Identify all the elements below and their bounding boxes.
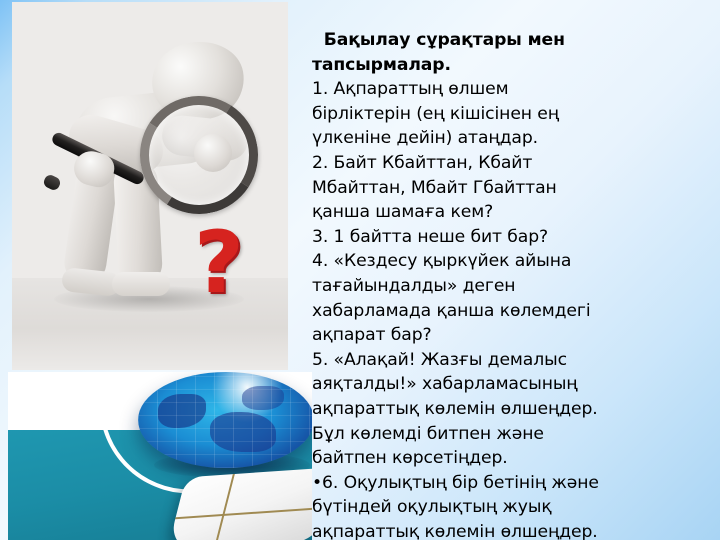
- text-line: байтпен көрсетіңдер.: [312, 446, 712, 471]
- text-line: ақпараттық көлемін өлшеңдер.: [312, 520, 712, 540]
- text-line: 5. «Алақай! Жазғы демалыс: [312, 348, 712, 373]
- text-line: 4. «Кездесу қыркүйек айына: [312, 249, 712, 274]
- text-line: 2. Байт Кбайттан, Кбайт: [312, 151, 712, 176]
- text-line: хабарламада қанша көлемдегі: [312, 299, 712, 324]
- figure-hand-right: [194, 134, 232, 172]
- text-line: •6. Оқулықтың бір бетінің және: [312, 471, 712, 496]
- magnifying-glass-handle-tip: [42, 173, 62, 192]
- text-line: бүтіндей оқулықтың жуық: [312, 495, 712, 520]
- text-line: бірліктерін (ең кішісінен ең: [312, 102, 712, 127]
- text-line: 3. 1 байтта неше бит бар?: [312, 225, 712, 250]
- text-line: Бақылау сұрақтары мен: [312, 28, 712, 53]
- text-line: қанша шамаға кем?: [312, 200, 712, 225]
- text-line: 1. Ақпараттың өлшем: [312, 77, 712, 102]
- mouse-edge-line: [175, 507, 312, 519]
- text-line: тағайындалды» деген: [312, 274, 712, 299]
- mouse-button-divider: [214, 474, 235, 540]
- text-line: ақпараттық көлемін өлшеңдер.: [312, 397, 712, 422]
- figure-foot-right: [112, 272, 170, 296]
- globe-and-mouse-image: [8, 372, 312, 540]
- text-line: Мбайттан, Мбайт Гбайттан: [312, 176, 712, 201]
- text-line: аяқталды!» хабарламасының: [312, 372, 712, 397]
- question-mark-icon: ?: [194, 220, 244, 306]
- text-line: үлкеніне дейін) атаңдар.: [312, 126, 712, 151]
- slide-text-body: Бақылау сұрақтары мен тапсырмалар. 1. Ақ…: [312, 28, 712, 540]
- presentation-slide: ? Бақылау сұрақтары мен тапсырмалар. 1. …: [0, 0, 720, 540]
- text-line: Бұл көлемді битпен және: [312, 422, 712, 447]
- magnifying-glass-figure-image: ?: [12, 2, 288, 370]
- text-line: тапсырмалар.: [312, 53, 712, 78]
- text-line: ақпарат бар?: [312, 323, 712, 348]
